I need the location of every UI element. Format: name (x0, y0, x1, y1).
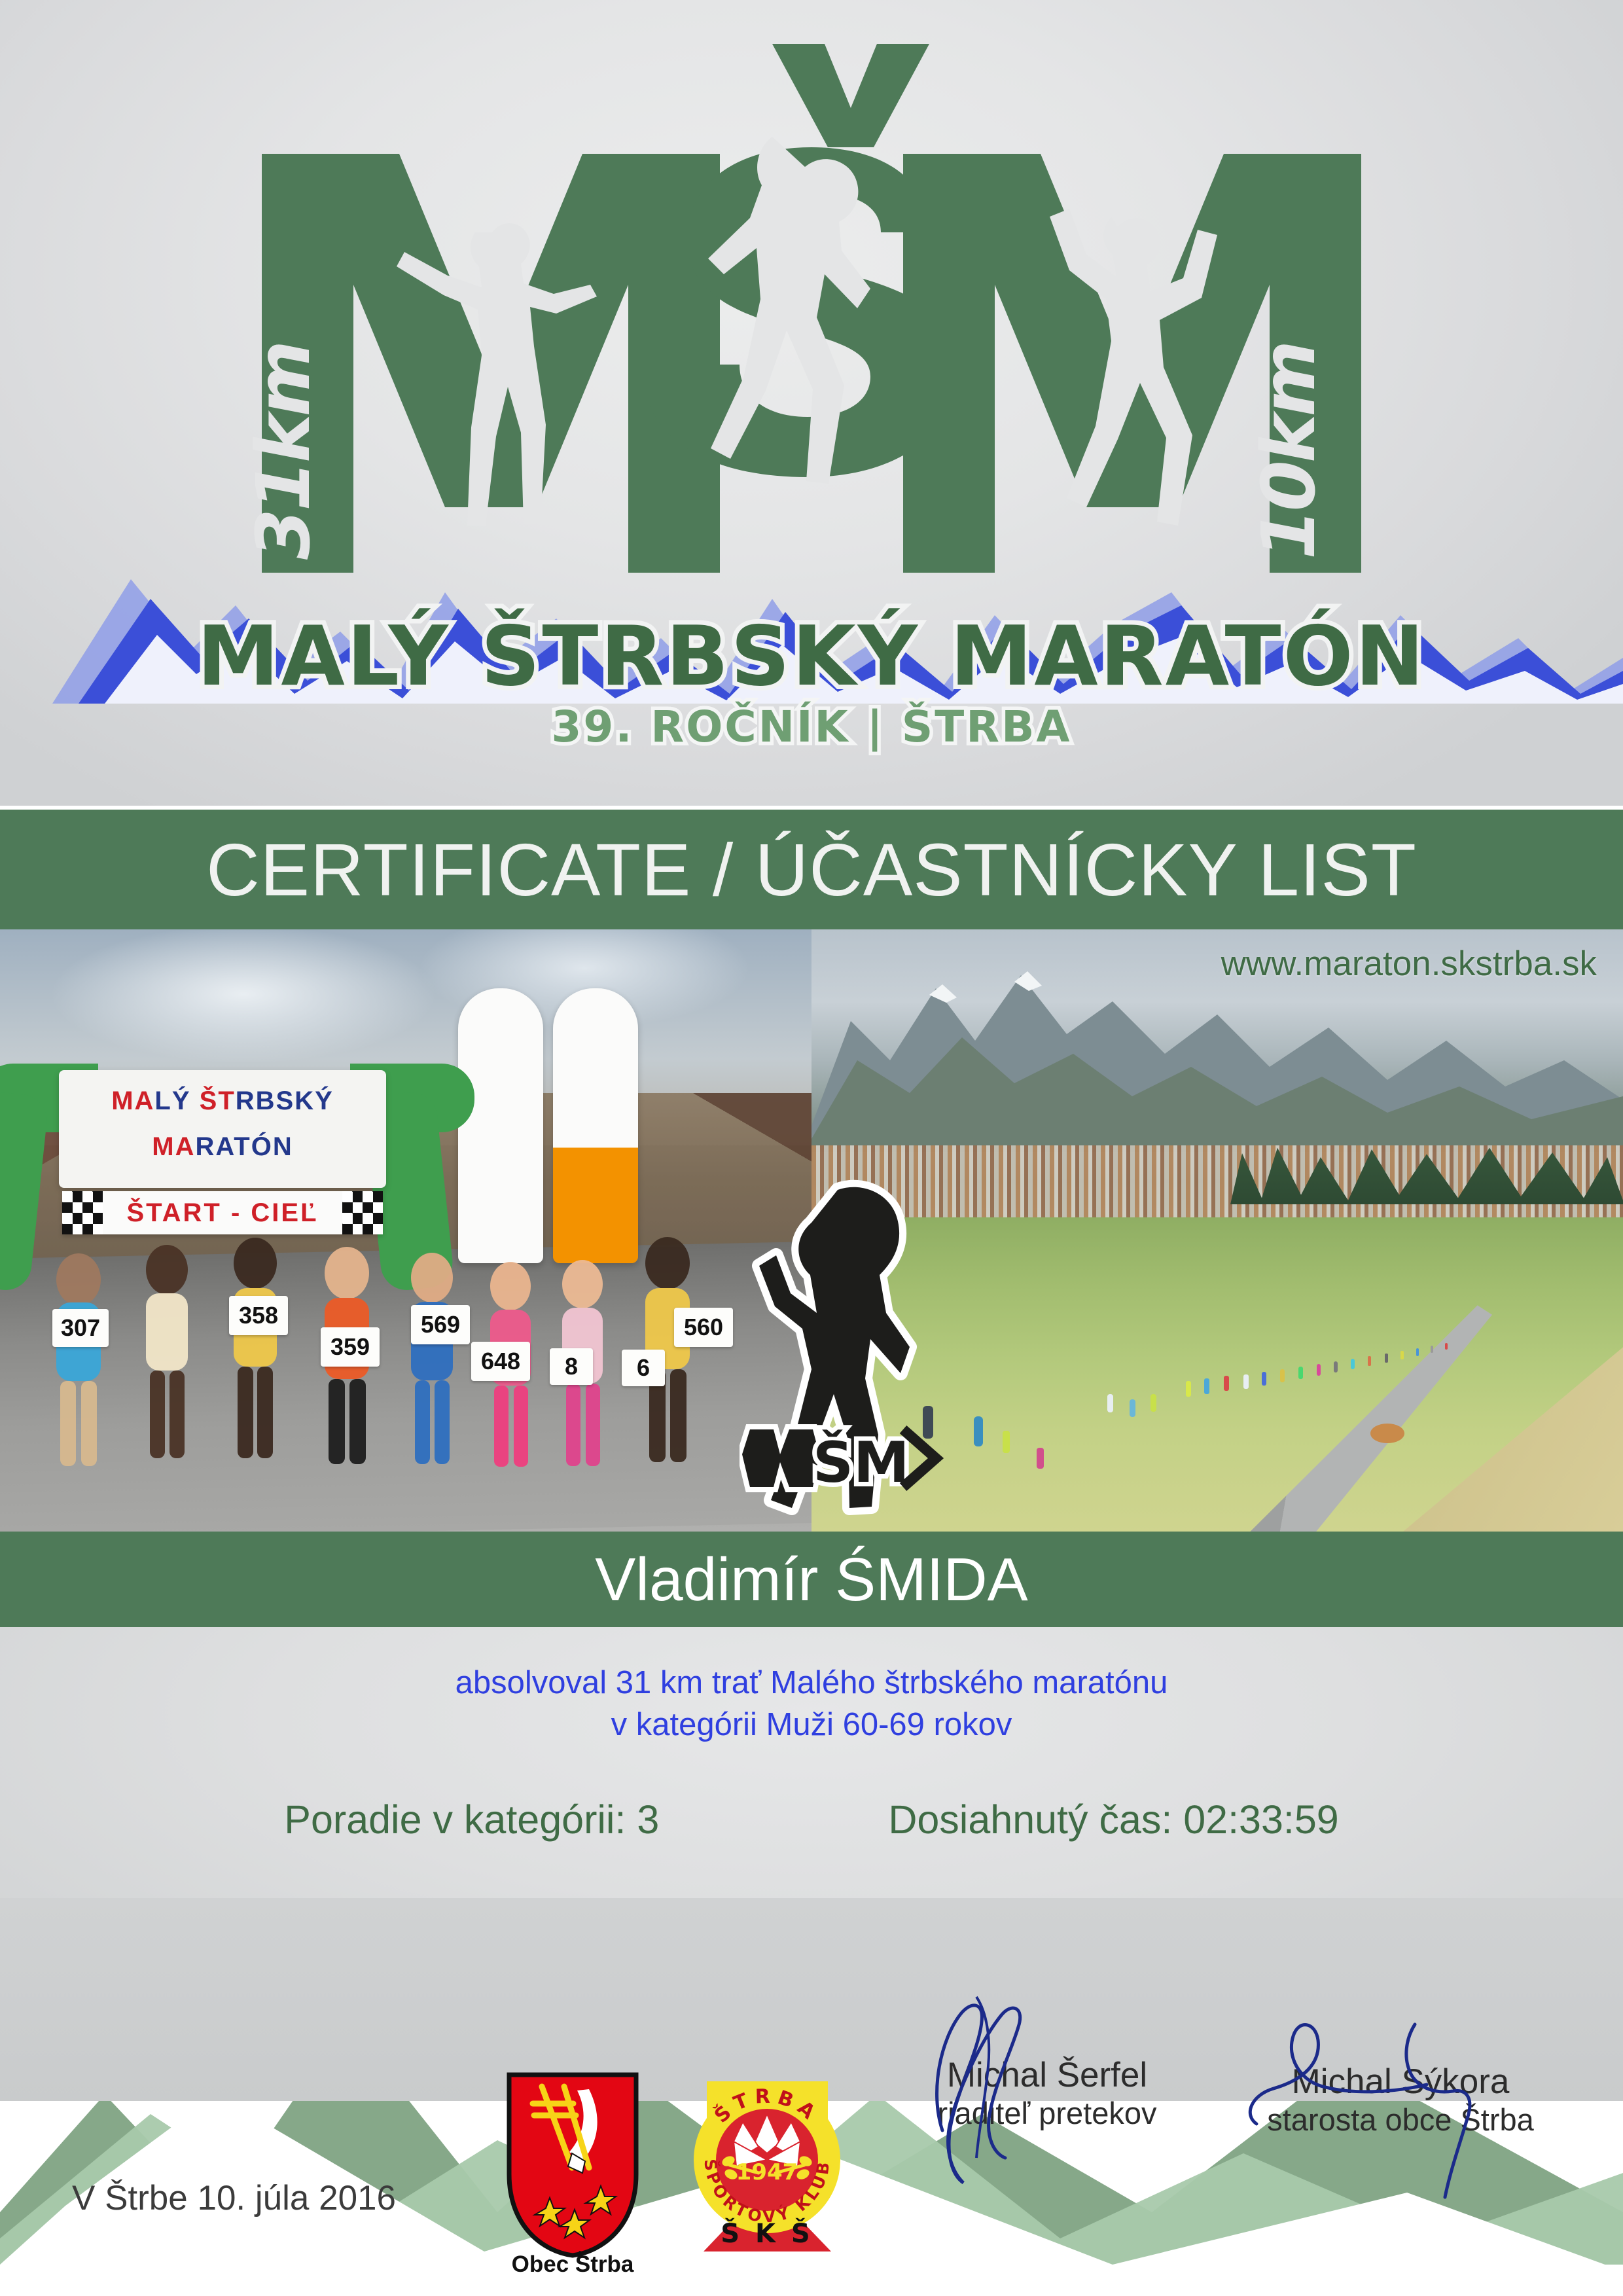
bib-number: 359 (321, 1327, 380, 1367)
bib-number: 560 (674, 1308, 733, 1347)
signature-block-director: Michal Šerfel riaditeľ pretekov (844, 2055, 1250, 2131)
website-url: www.maraton.skstrba.sk (1221, 944, 1597, 984)
bib-number: 569 (411, 1305, 470, 1344)
club-bottom-text: Š K Š (721, 2217, 813, 2249)
msm-runner-mascot: ŠM (740, 1178, 955, 1518)
photo-race-start: MALÝ ŠTRBSKÝ MARATÓN ŠTART - CIEĽ (0, 929, 811, 1532)
sks-svg: ŠTRBA ŠPORTOVÝ KLUB 1947 Š K Š (690, 2062, 844, 2258)
participant-name: Vladimír ŚMIDA (595, 1545, 1027, 1615)
arch-text-line2: MARATÓN (59, 1132, 386, 1162)
issue-date: V Štrbe 10. júla 2016 (72, 2178, 396, 2218)
msm-logo-svg: 31km 10km (236, 36, 1387, 579)
signature-ink-director (903, 1993, 1119, 2189)
crest-svg (504, 2070, 641, 2259)
description-line-1: absolvoval 31 km trať Malého štrbského m… (0, 1662, 1623, 1704)
description-line-2: v kategórii Muži 60-69 rokov (0, 1704, 1623, 1746)
arch-rbsky: RBSKÝ (236, 1086, 334, 1115)
arch-ma: MA (111, 1086, 154, 1115)
event-title-row: MALÝ ŠTRBSKÝ MARATÓN (0, 615, 1623, 698)
signature-ink-mayor (1237, 1993, 1512, 2202)
mascot-label: ŠM (813, 1429, 910, 1496)
signature-block-mayor: Michal Sýkora starosta obce Štrba (1198, 2062, 1603, 2138)
category-rank: Poradie v kategórii: 3 (284, 1797, 659, 1842)
arch-raton: RATÓN (195, 1132, 293, 1161)
event-edition: 39. ROČNÍK | ŠTRBA (551, 706, 1071, 749)
achievement-description: absolvoval 31 km trať Malého štrbského m… (0, 1662, 1623, 1746)
bib-number: 307 (52, 1309, 109, 1347)
bib-number: 648 (471, 1342, 530, 1381)
photo-band: MALÝ ŠTRBSKÝ MARATÓN ŠTART - CIEĽ (0, 929, 1623, 1532)
msm-logo: 31km 10km (0, 36, 1623, 579)
arch-ly: LÝ (154, 1086, 190, 1115)
certificate-banner-title: CERTIFICATE / ÚČASTNÍCKY LIST (206, 827, 1417, 912)
event-title: MALÝ ŠTRBSKÝ MARATÓN (197, 615, 1426, 698)
municipality-label: Obec Štrba (484, 2251, 661, 2278)
svg-text:31km: 31km (241, 343, 327, 560)
finish-time: Dosiahnutý čas: 02:33:59 (888, 1797, 1338, 1842)
bib-number: 6 (622, 1350, 665, 1386)
certificate-banner: CERTIFICATE / ÚČASTNÍCKY LIST (0, 810, 1623, 929)
certificate-footer: V Štrbe 10. júla 2016 Obec (0, 2055, 1623, 2296)
results-row: Poradie v kategórii: 3 Dosiahnutý čas: 0… (0, 1797, 1623, 1842)
svg-text:10km: 10km (1247, 343, 1332, 560)
sks-club-logo: ŠTRBA ŠPORTOVÝ KLUB 1947 Š K Š (690, 2062, 844, 2258)
event-edition-row: 39. ROČNÍK | ŠTRBA (0, 706, 1623, 749)
certificate-page: 31km 10km MALÝ ŠTRBSK (0, 0, 1623, 2296)
bib-number: 8 (550, 1348, 593, 1385)
bib-number: 358 (229, 1296, 288, 1335)
mascot-svg: ŠM (740, 1178, 955, 1518)
runner-pack-svg (0, 1165, 811, 1532)
runner-pack: 307 358 359 569 648 8 6 560 (0, 1165, 811, 1532)
arch-text-line1: MALÝ ŠTRBSKÝ (59, 1086, 386, 1116)
arch-st: ŠT (191, 1086, 236, 1115)
club-year-text: 1947 (736, 2159, 798, 2185)
arch-ma2: MA (152, 1132, 195, 1161)
participant-name-banner: Vladimír ŚMIDA (0, 1532, 1623, 1627)
obec-strba-crest (504, 2070, 641, 2259)
